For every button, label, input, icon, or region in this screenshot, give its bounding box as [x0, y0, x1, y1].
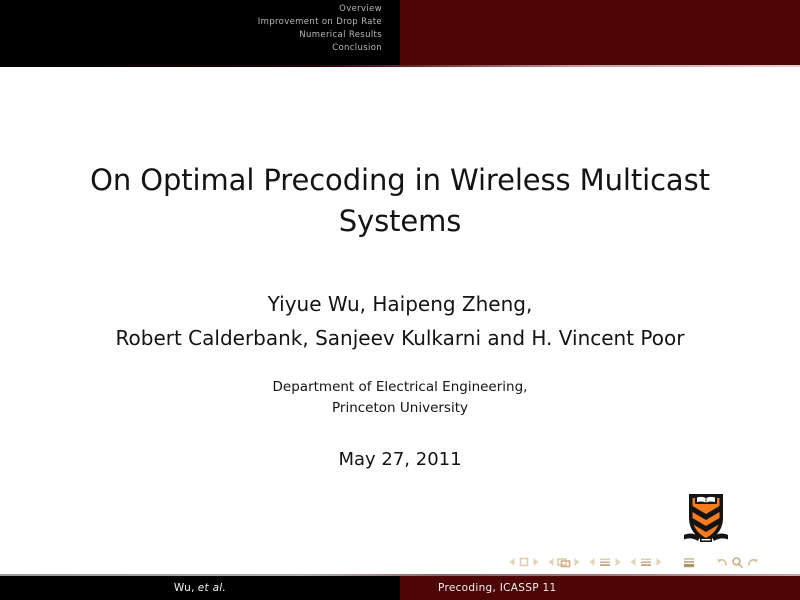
institute-line-2: Princeton University	[60, 398, 740, 419]
footer-author-name: Wu,	[174, 582, 195, 594]
author-line-1: Yiyue Wu, Haipeng Zheng,	[40, 287, 760, 321]
next-frame-icon[interactable]	[572, 556, 581, 568]
document-icon[interactable]	[681, 556, 697, 569]
document-navigation-group[interactable]	[681, 556, 697, 569]
institute-block: Department of Electrical Engineering, Pr…	[60, 377, 740, 419]
next-subsection-icon[interactable]	[613, 556, 622, 568]
subsection-navigation-group[interactable]	[588, 556, 622, 568]
next-section-icon[interactable]	[654, 556, 663, 568]
prev-subsection-icon[interactable]	[588, 556, 597, 568]
nav-item-improvement-on-drop-rate[interactable]: Improvement on Drop Rate	[258, 16, 400, 29]
princeton-shield-icon	[676, 488, 736, 550]
back-arrow-icon[interactable]	[715, 556, 730, 569]
nav-item-numerical-results[interactable]: Numerical Results	[299, 29, 400, 42]
presentation-date: May 27, 2011	[60, 449, 740, 470]
magnifier-icon[interactable]	[730, 556, 745, 569]
next-slide-icon[interactable]	[531, 556, 540, 568]
footer-bar: Wu, et al. Precoding, ICASSP 11	[0, 576, 800, 600]
header-nav-list: Overview Improvement on Drop Rate Numeri…	[0, 0, 400, 65]
nav-item-conclusion[interactable]: Conclusion	[332, 42, 400, 55]
footer-title: Precoding, ICASSP 11	[400, 576, 800, 600]
beamer-navigation-symbols[interactable]	[430, 553, 760, 571]
slide-content-area: On Optimal Precoding in Wireless Multica…	[0, 67, 800, 576]
institute-line-1: Department of Electrical Engineering,	[60, 377, 740, 398]
section-navigation-group[interactable]	[629, 556, 663, 568]
footer-author-etal: et al.	[198, 582, 226, 594]
section-lines-icon[interactable]	[638, 556, 654, 568]
slide-navigation-group[interactable]	[508, 556, 540, 568]
nav-item-overview[interactable]: Overview	[339, 3, 400, 16]
prev-slide-icon[interactable]	[508, 556, 517, 568]
author-list: Yiyue Wu, Haipeng Zheng, Robert Calderba…	[40, 287, 760, 355]
prev-section-icon[interactable]	[629, 556, 638, 568]
history-navigation-group[interactable]	[715, 556, 760, 569]
frame-stack-icon[interactable]	[556, 556, 572, 568]
header-accent-block	[400, 0, 800, 65]
page-title: On Optimal Precoding in Wireless Multica…	[60, 160, 740, 242]
author-line-2: Robert Calderbank, Sanjeev Kulkarni and …	[40, 321, 760, 355]
forward-arrow-icon[interactable]	[745, 556, 760, 569]
frame-navigation-group[interactable]	[547, 556, 581, 568]
prev-frame-icon[interactable]	[547, 556, 556, 568]
footer-author: Wu, et al.	[0, 576, 400, 600]
header-bar: Overview Improvement on Drop Rate Numeri…	[0, 0, 800, 65]
subsection-lines-icon[interactable]	[597, 556, 613, 568]
slide-square-icon[interactable]	[517, 556, 531, 568]
